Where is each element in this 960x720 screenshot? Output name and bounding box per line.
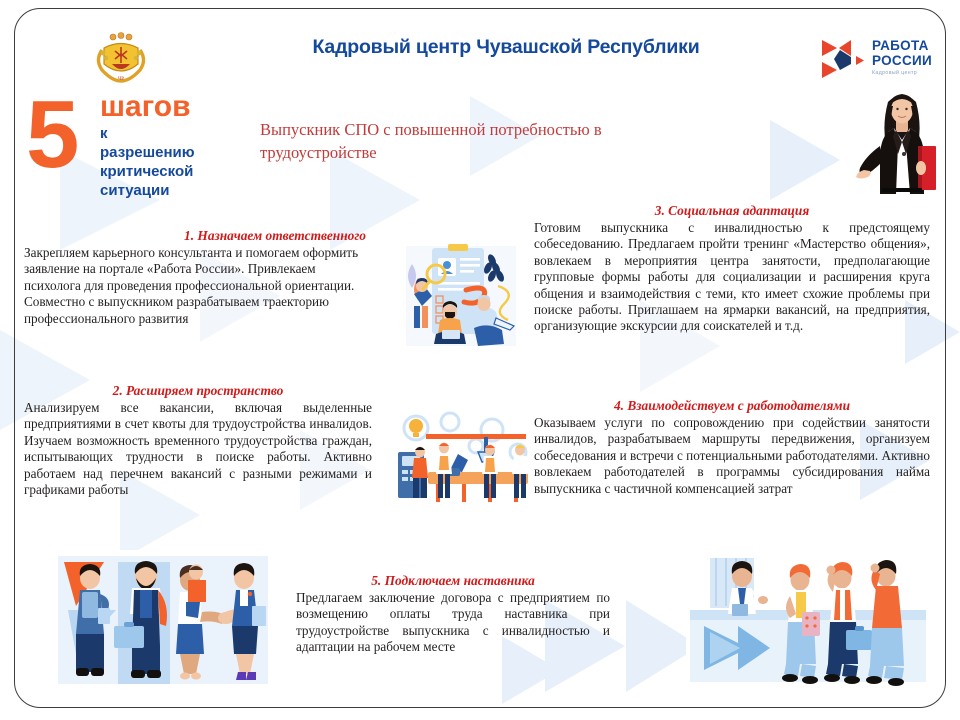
logo-line-2: РОССИИ (872, 54, 932, 69)
service-counter-queue-illustration (686, 548, 930, 690)
step-1-block: 1. Назначаем ответственного Закрепляем к… (24, 228, 372, 327)
hero-subtext-line-3: ситуации (100, 181, 195, 200)
step-3-body: Готовим выпускника с инвалидностью к пре… (534, 220, 930, 335)
workers-handshake-illustration (46, 550, 304, 690)
step-1-heading: 1. Назначаем ответственного (24, 228, 372, 244)
resume-review-illustration (392, 234, 538, 364)
step-4-heading: 4. Взаимодействуем с работодателями (534, 398, 930, 414)
header: ЧР Кадровый центр Чувашской Республики Р… (0, 14, 960, 86)
poster-root: ЧР Кадровый центр Чувашской Республики Р… (0, 0, 960, 720)
svg-text:ЧР: ЧР (118, 77, 124, 82)
step-2-block: 2. Расширяем пространство Анализируем вс… (24, 383, 372, 498)
chuvash-coat-of-arms-icon: ЧР (90, 30, 152, 92)
hero-subtext-line-2: критической (100, 162, 195, 181)
rabota-rossii-logo-mark-icon (820, 38, 866, 84)
hero-subtext-line-1: к разрешению (100, 124, 195, 162)
step-2-heading: 2. Расширяем пространство (24, 383, 372, 399)
rabota-rossii-tagline: Кадровый центр (872, 70, 917, 76)
step-4-block: 4. Взаимодействуем с работодателями Оказ… (534, 398, 930, 497)
step-1-body: Закрепляем карьерного консультанта и пом… (24, 245, 372, 327)
hero-word: шагов (100, 90, 191, 124)
step-5-body: Предлагаем заключение договора с предпри… (296, 590, 610, 656)
step-3-block: 3. Социальная адаптация Готовим выпускни… (534, 203, 930, 335)
step-3-heading: 3. Социальная адаптация (534, 203, 930, 219)
step-2-body: Анализируем все вакансии, включая выделе… (24, 400, 372, 498)
logo-line-1: РАБОТА (872, 39, 932, 54)
hero-subtext: к разрешению критической ситуации (100, 124, 195, 200)
factory-production-illustration (392, 404, 538, 524)
rabota-rossii-logo-text: РАБОТА РОССИИ (872, 39, 932, 68)
rabota-rossii-logo: РАБОТА РОССИИ Кадровый центр (820, 36, 950, 88)
page-title: Кадровый центр Чувашской Республики (236, 36, 776, 59)
step-4-body: Оказываем услуги по сопровождению при со… (534, 415, 930, 497)
target-audience-subtitle: Выпускник СПО с повышенной потребностью … (260, 118, 680, 164)
hero-number: 5 (26, 92, 79, 178)
step-5-block: 5. Подключаем наставника Предлагаем закл… (296, 573, 610, 656)
consultant-woman-photo (852, 84, 952, 204)
step-5-heading: 5. Подключаем наставника (296, 573, 610, 589)
